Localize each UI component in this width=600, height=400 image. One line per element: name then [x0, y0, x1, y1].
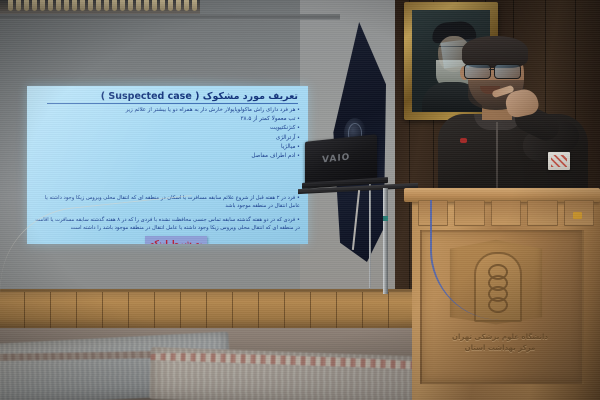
slide-bullet-list: هر فرد دارای راش ماکولوپاپولار خارش دار … — [50, 106, 300, 161]
laptop-stand-post — [383, 188, 388, 294]
eyeglasses-icon — [464, 64, 526, 77]
persian-carpet-right — [149, 347, 441, 400]
slide-bullet: آرترالژی — [50, 134, 300, 143]
crest-line: دانشگاه علوم پزشکی تهران — [424, 332, 576, 343]
tassel-fringe — [8, 0, 198, 12]
slide-bullet: ادم اطراف مفاصل — [50, 152, 300, 161]
lapel-pin — [460, 138, 467, 143]
slide-title: تعریف مورد مشکوک ( Suspected case ) — [47, 91, 298, 104]
slide-bullet: تب معمولا کمتر از ۳۸.۵ — [50, 115, 300, 124]
crest-line: مرکز بهداشت استان — [424, 343, 576, 354]
slide-bullet: کنژنکتیویت — [50, 124, 300, 133]
podium-crest-text: دانشگاه علوم پزشکی تهران مرکز بهداشت است… — [424, 332, 576, 354]
slide-bullet: میالژیا — [50, 143, 300, 152]
wall-cornice — [0, 14, 340, 20]
slide-bullet: هر فرد دارای راش ماکولوپاپولار خارش دار … — [50, 106, 300, 115]
lecture-hall-photo: تعریف مورد مشکوک ( Suspected case ) هر ف… — [0, 0, 600, 400]
podium-sticker — [573, 212, 582, 219]
podium-small-box — [548, 152, 570, 170]
curtain-valance — [0, 0, 200, 14]
